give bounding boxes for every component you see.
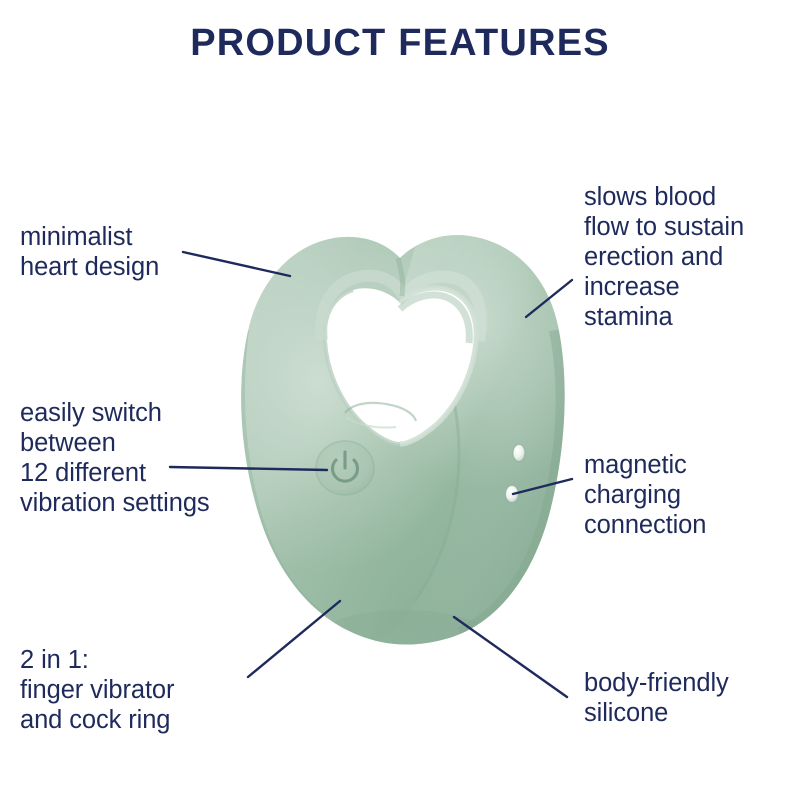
leader-slows-blood-flow <box>526 280 572 317</box>
callout-vibration-settings: easily switch between 12 different vibra… <box>20 398 210 518</box>
callout-magnetic-charging: magnetic charging connection <box>584 450 706 540</box>
leader-magnetic-charging <box>513 479 572 494</box>
leader-minimalist-heart-design <box>183 252 290 276</box>
leader-two-in-one <box>248 601 340 677</box>
callout-minimalist-heart-design: minimalist heart design <box>20 222 159 282</box>
callout-body-friendly-silicone: body-friendly silicone <box>584 668 729 728</box>
product-features-infographic: PRODUCT FEATURES <box>0 0 800 800</box>
callout-two-in-one: 2 in 1: finger vibrator and cock ring <box>20 645 174 735</box>
leader-body-friendly-silicone <box>454 617 567 697</box>
callout-slows-blood-flow: slows blood flow to sustain erection and… <box>584 182 744 332</box>
